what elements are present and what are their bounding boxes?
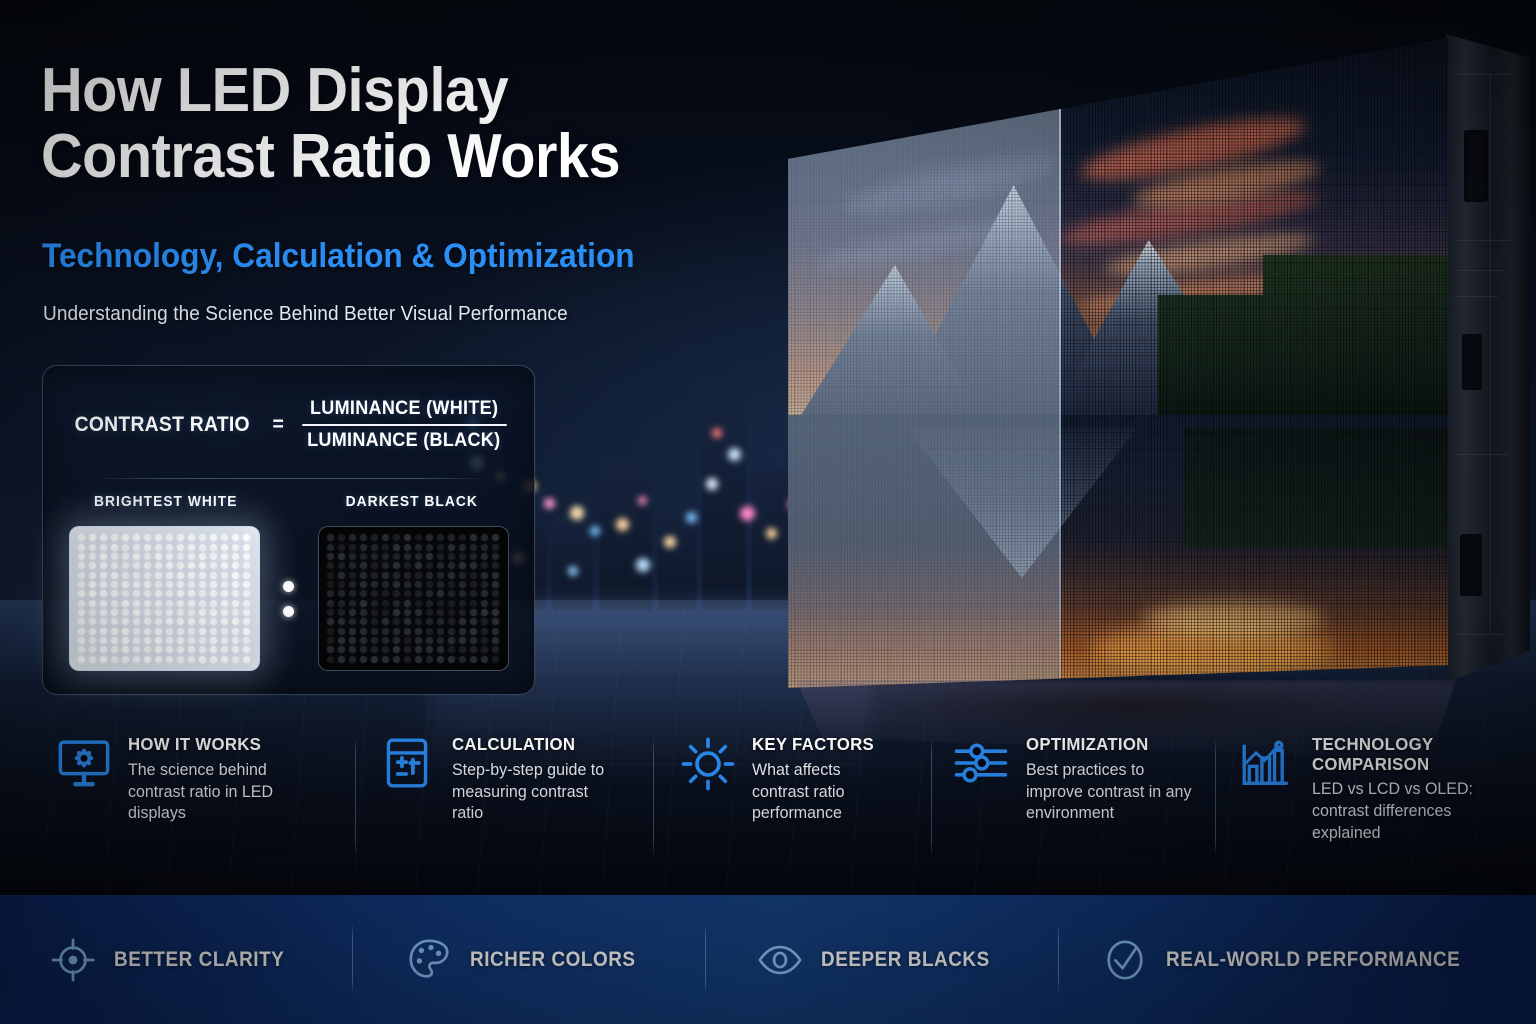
led-dot <box>338 628 345 635</box>
led-dot <box>188 572 195 579</box>
led-dot <box>144 637 151 644</box>
led-dot <box>144 562 151 569</box>
led-dot <box>210 618 217 625</box>
led-dot <box>371 637 378 644</box>
led-dot <box>415 534 422 541</box>
led-dot <box>382 581 389 588</box>
sliders-icon <box>954 736 1010 792</box>
led-dot <box>382 637 389 644</box>
led-dot <box>459 628 466 635</box>
led-dot <box>166 590 173 597</box>
led-dot <box>155 544 162 551</box>
led-dot <box>470 618 477 625</box>
led-dot <box>232 609 239 616</box>
led-dot <box>437 600 444 607</box>
led-dot <box>382 656 389 663</box>
led-dot <box>448 572 455 579</box>
led-dot <box>437 637 444 644</box>
led-dot <box>78 534 85 541</box>
led-dot <box>415 628 422 635</box>
led-dot <box>89 656 96 663</box>
led-dot <box>360 618 367 625</box>
led-dot <box>133 553 140 560</box>
led-dot <box>155 572 162 579</box>
led-dot <box>360 600 367 607</box>
led-dot <box>481 534 488 541</box>
led-dot <box>78 581 85 588</box>
led-dot <box>221 572 228 579</box>
led-dot <box>166 628 173 635</box>
led-dot <box>327 609 334 616</box>
led-dot <box>459 646 466 653</box>
led-dot <box>232 646 239 653</box>
led-dot <box>492 572 499 579</box>
led-dot <box>481 600 488 607</box>
feature-title: CALCULATION <box>452 735 606 755</box>
led-dot <box>371 572 378 579</box>
led-dot <box>199 600 206 607</box>
led-dot <box>78 646 85 653</box>
led-dot <box>360 628 367 635</box>
led-dot <box>459 590 466 597</box>
led-dot <box>221 609 228 616</box>
led-dot <box>100 618 107 625</box>
led-dot <box>166 534 173 541</box>
led-dot <box>448 553 455 560</box>
led-dot <box>166 572 173 579</box>
led-dot <box>100 600 107 607</box>
led-dot <box>188 600 195 607</box>
led-dot <box>327 628 334 635</box>
led-dot <box>111 581 118 588</box>
contrast-ratio-formula-panel: CONTRAST RATIO = LUMINANCE (WHITE) LUMIN… <box>42 365 535 695</box>
feature-text: CALCULATION Step-by-step guide to measur… <box>452 733 612 878</box>
infographic-stage: How LED Display Contrast Ratio Works Tec… <box>0 0 1536 1024</box>
led-dot <box>133 646 140 653</box>
led-dot <box>349 656 356 663</box>
led-dot <box>111 656 118 663</box>
led-dot <box>133 534 140 541</box>
led-dot <box>349 609 356 616</box>
led-dot <box>492 637 499 644</box>
led-video-wall <box>760 20 1536 720</box>
formula-numerator: LUMINANCE (WHITE) <box>306 396 502 422</box>
led-dot <box>492 618 499 625</box>
led-dot <box>360 534 367 541</box>
led-dot <box>481 590 488 597</box>
led-dot <box>89 544 96 551</box>
led-dot <box>360 637 367 644</box>
led-dot <box>338 609 345 616</box>
led-dot <box>122 600 129 607</box>
led-dot <box>415 646 422 653</box>
led-dot <box>188 618 195 625</box>
led-dot <box>166 581 173 588</box>
led-dot <box>221 544 228 551</box>
led-dot <box>327 656 334 663</box>
led-dot <box>111 572 118 579</box>
feature-calculation[interactable]: CALCULATION Step-by-step guide to measur… <box>356 733 654 878</box>
led-dot <box>371 590 378 597</box>
led-dot <box>155 646 162 653</box>
led-dot <box>243 637 250 644</box>
led-dot <box>89 553 96 560</box>
led-dot <box>221 600 228 607</box>
led-dot <box>459 600 466 607</box>
led-dot <box>210 609 217 616</box>
led-dot <box>177 534 184 541</box>
led-dot <box>122 646 129 653</box>
led-dot <box>78 656 85 663</box>
led-dot <box>338 590 345 597</box>
led-dot <box>221 534 228 541</box>
colon-dot-top <box>283 581 294 592</box>
led-dot <box>459 609 466 616</box>
led-dot <box>349 581 356 588</box>
led-dot <box>155 609 162 616</box>
feature-text: HOW IT WORKS The science behind contrast… <box>128 733 280 878</box>
feature-technology-comparison[interactable]: TECHNOLOGY COMPARISON LED vs LCD vs OLED… <box>1216 733 1496 878</box>
led-dot <box>327 590 334 597</box>
led-dot <box>243 656 250 663</box>
led-dot <box>177 656 184 663</box>
calculator-icon <box>380 736 436 792</box>
led-dot <box>481 628 488 635</box>
benefit-deeper-blacks[interactable]: DEEPER BLACKS <box>706 895 1059 1024</box>
led-dot <box>371 534 378 541</box>
led-dot <box>338 553 345 560</box>
led-dot <box>492 590 499 597</box>
led-dot <box>188 534 195 541</box>
led-dot <box>338 646 345 653</box>
led-dot <box>122 656 129 663</box>
led-dot <box>426 572 433 579</box>
led-dot <box>188 637 195 644</box>
led-dot <box>221 637 228 644</box>
led-dot <box>481 637 488 644</box>
led-dot <box>122 590 129 597</box>
led-dot <box>177 600 184 607</box>
led-dot <box>437 656 444 663</box>
led-dot <box>221 618 228 625</box>
led-dot <box>404 572 411 579</box>
led-dot <box>232 600 239 607</box>
led-dot <box>243 646 250 653</box>
led-dot <box>426 646 433 653</box>
led-dot <box>404 646 411 653</box>
led-dot <box>481 553 488 560</box>
led-dot <box>111 534 118 541</box>
led-dot <box>100 534 107 541</box>
low-contrast-wash <box>788 38 1059 688</box>
displayed-scene <box>788 38 1448 688</box>
led-dot <box>155 553 162 560</box>
benefit-real-world-performance[interactable]: REAL-WORLD PERFORMANCE <box>1059 895 1536 1024</box>
led-dot <box>481 544 488 551</box>
led-dot <box>448 544 455 551</box>
led-dot <box>199 590 206 597</box>
led-dot <box>144 590 151 597</box>
colon-dot-bottom <box>283 606 294 617</box>
led-dot <box>210 600 217 607</box>
led-dot <box>166 544 173 551</box>
led-dot <box>232 628 239 635</box>
feature-optimization[interactable]: OPTIMIZATION Best practices to improve c… <box>932 733 1216 878</box>
led-dot <box>232 572 239 579</box>
monitor-gear-icon <box>56 736 112 792</box>
benefit-label: BETTER CLARITY <box>114 948 284 972</box>
led-dot <box>448 590 455 597</box>
led-dot <box>232 581 239 588</box>
feature-key-factors[interactable]: KEY FACTORS What affects contrast ratio … <box>654 733 932 878</box>
led-dot <box>426 544 433 551</box>
led-dot <box>371 646 378 653</box>
led-dot <box>448 609 455 616</box>
led-dot <box>100 572 107 579</box>
led-dot <box>481 646 488 653</box>
led-dot <box>470 600 477 607</box>
led-dot <box>338 562 345 569</box>
led-dot <box>100 562 107 569</box>
led-dot <box>122 609 129 616</box>
led-dot <box>221 656 228 663</box>
title-line-2: Contrast Ratio Works <box>41 124 804 190</box>
led-dot <box>360 590 367 597</box>
led-dot <box>470 544 477 551</box>
led-dot <box>349 572 356 579</box>
led-dot <box>459 656 466 663</box>
led-dot <box>338 637 345 644</box>
led-dot <box>327 646 334 653</box>
page-subtitle: Technology, Calculation & Optimization <box>42 238 805 275</box>
led-dot <box>349 553 356 560</box>
led-dot <box>122 562 129 569</box>
feature-how-it-works[interactable]: HOW IT WORKS The science behind contrast… <box>56 733 356 878</box>
led-dot <box>327 618 334 625</box>
led-dot <box>89 600 96 607</box>
led-dot <box>78 618 85 625</box>
led-dot <box>100 581 107 588</box>
led-dot <box>426 609 433 616</box>
led-dot <box>470 646 477 653</box>
led-dot <box>210 544 217 551</box>
led-dot <box>232 553 239 560</box>
led-dot <box>155 618 162 625</box>
led-dot <box>89 562 96 569</box>
led-dot <box>199 646 206 653</box>
led-dot <box>360 544 367 551</box>
feature-title: TECHNOLOGY COMPARISON <box>1312 735 1456 774</box>
led-dot <box>111 600 118 607</box>
led-swatch-row <box>43 526 534 676</box>
led-dot <box>232 656 239 663</box>
led-dot <box>349 628 356 635</box>
led-dot <box>111 637 118 644</box>
led-dot <box>243 544 250 551</box>
feature-title: OPTIMIZATION <box>1026 735 1191 755</box>
led-dot <box>177 646 184 653</box>
led-dot <box>177 590 184 597</box>
led-dot <box>133 562 140 569</box>
led-dot <box>459 618 466 625</box>
led-dot <box>492 646 499 653</box>
led-dot <box>426 656 433 663</box>
led-dot <box>382 646 389 653</box>
led-dot <box>437 618 444 625</box>
led-dot <box>78 609 85 616</box>
led-dot <box>243 590 250 597</box>
feature-description: Best practices to improve contrast in an… <box>1026 760 1193 826</box>
led-dot <box>133 637 140 644</box>
led-dot <box>415 553 422 560</box>
led-dot <box>78 590 85 597</box>
led-dot <box>78 637 85 644</box>
led-dot <box>349 600 356 607</box>
led-dot <box>371 581 378 588</box>
led-dot <box>360 609 367 616</box>
formula-equals-sign: = <box>272 413 284 437</box>
led-dot <box>221 646 228 653</box>
led-dot <box>393 600 400 607</box>
led-dot <box>177 572 184 579</box>
led-dot <box>210 628 217 635</box>
led-dot <box>199 637 206 644</box>
led-dot <box>382 600 389 607</box>
led-dot <box>144 656 151 663</box>
benefit-label: REAL-WORLD PERFORMANCE <box>1166 948 1460 972</box>
led-dot <box>78 628 85 635</box>
led-dot <box>393 618 400 625</box>
led-dot <box>210 646 217 653</box>
led-dot <box>371 628 378 635</box>
led-dot <box>243 600 250 607</box>
darkest-black-swatch <box>318 526 509 671</box>
led-dot <box>470 562 477 569</box>
led-dot <box>144 544 151 551</box>
led-dot <box>338 600 345 607</box>
led-dot <box>360 646 367 653</box>
led-dot <box>492 581 499 588</box>
led-dot <box>448 562 455 569</box>
led-dot <box>448 637 455 644</box>
led-dot <box>188 562 195 569</box>
led-dot <box>188 590 195 597</box>
led-dot <box>155 656 162 663</box>
led-dot <box>133 572 140 579</box>
led-dot <box>437 628 444 635</box>
led-dot <box>166 637 173 644</box>
led-dot <box>78 562 85 569</box>
led-dot <box>404 553 411 560</box>
led-dot <box>437 609 444 616</box>
led-dot <box>89 581 96 588</box>
led-dot <box>166 656 173 663</box>
led-dot <box>177 618 184 625</box>
led-dot <box>393 562 400 569</box>
led-dot <box>232 637 239 644</box>
led-dot <box>100 553 107 560</box>
feature-description: Step-by-step guide to measuring contrast… <box>452 760 607 826</box>
led-dot <box>459 544 466 551</box>
led-dot <box>371 609 378 616</box>
led-dot <box>470 590 477 597</box>
led-dot <box>210 572 217 579</box>
feature-text: OPTIMIZATION Best practices to improve c… <box>1026 733 1198 878</box>
led-dot <box>470 553 477 560</box>
led-dot <box>448 581 455 588</box>
led-dot <box>459 562 466 569</box>
led-dot <box>360 656 367 663</box>
led-dot <box>232 618 239 625</box>
led-dot <box>122 628 129 635</box>
led-dot <box>437 534 444 541</box>
led-dot <box>155 637 162 644</box>
led-dot <box>470 656 477 663</box>
benefit-label: RICHER COLORS <box>470 948 636 972</box>
led-dot <box>100 656 107 663</box>
benefit-richer-colors[interactable]: RICHER COLORS <box>353 895 706 1024</box>
led-dot <box>338 544 345 551</box>
led-dot <box>122 637 129 644</box>
page-title: How LED Display Contrast Ratio Works <box>41 58 804 191</box>
led-dot <box>327 544 334 551</box>
led-dot <box>221 628 228 635</box>
led-dot <box>382 553 389 560</box>
led-dot <box>89 646 96 653</box>
led-dot <box>437 553 444 560</box>
led-dot <box>78 553 85 560</box>
white-led-dot-grid <box>76 533 253 664</box>
led-dot <box>155 581 162 588</box>
led-dot <box>481 562 488 569</box>
led-dot <box>166 553 173 560</box>
benefit-better-clarity[interactable]: BETTER CLARITY <box>0 895 353 1024</box>
sun-brightness-icon <box>680 736 736 792</box>
led-dot <box>448 534 455 541</box>
led-dot <box>221 581 228 588</box>
led-dot <box>243 628 250 635</box>
led-dot <box>166 562 173 569</box>
led-dot <box>122 534 129 541</box>
led-dot <box>349 637 356 644</box>
led-dot <box>327 553 334 560</box>
led-dot <box>426 553 433 560</box>
led-dot <box>177 628 184 635</box>
led-dot <box>210 553 217 560</box>
led-dot <box>89 609 96 616</box>
led-dot <box>470 572 477 579</box>
led-dot <box>111 618 118 625</box>
wall-side-panel <box>1446 34 1530 704</box>
led-dot <box>415 637 422 644</box>
led-dot <box>459 534 466 541</box>
led-dot <box>78 572 85 579</box>
darkest-black-label: DARKEST BLACK <box>295 494 528 510</box>
check-circle-icon <box>1102 937 1148 983</box>
formula-fraction-bar <box>302 424 507 426</box>
formula-fraction: LUMINANCE (WHITE) LUMINANCE (BLACK) <box>298 396 510 454</box>
benefits-bar: BETTER CLARITY RICHER COLORS <box>0 895 1536 1024</box>
led-dot <box>133 544 140 551</box>
led-dot <box>133 618 140 625</box>
feature-title: HOW IT WORKS <box>128 735 274 755</box>
led-dot <box>89 618 96 625</box>
led-dot <box>188 581 195 588</box>
led-dot <box>199 534 206 541</box>
led-dot <box>188 628 195 635</box>
led-dot <box>393 534 400 541</box>
led-dot <box>382 628 389 635</box>
